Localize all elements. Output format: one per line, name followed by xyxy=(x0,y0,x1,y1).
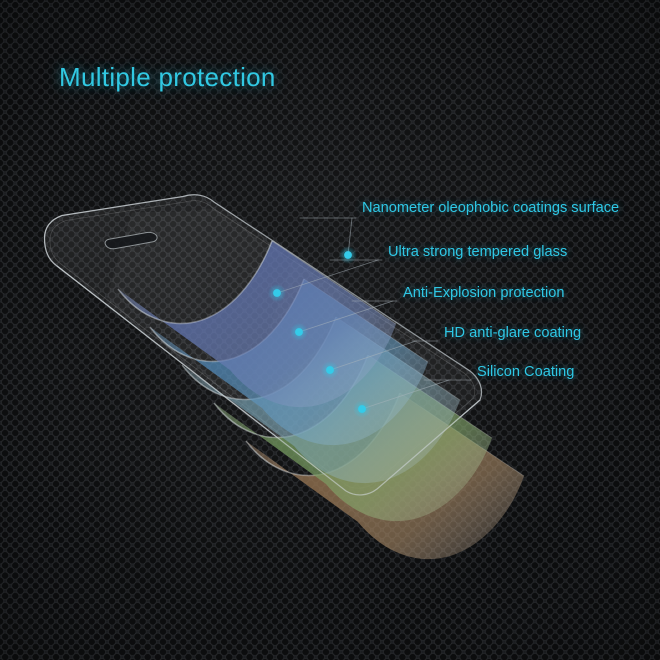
layer-label-anti-explosion-protection: Anti-Explosion protection xyxy=(403,285,564,301)
marker-dot-3 xyxy=(290,323,308,341)
marker-dot-5 xyxy=(353,400,371,418)
layer-label-nanometer-oleophobic: Nanometer oleophobic coatings surface xyxy=(362,200,619,216)
page-title: Multiple protection xyxy=(59,62,276,93)
marker-dot-4 xyxy=(321,361,339,379)
marker-dot-2 xyxy=(268,284,286,302)
layer-label-silicon-coating: Silicon Coating xyxy=(477,364,574,380)
marker-dot-1 xyxy=(339,246,357,264)
product-infographic: Multiple protection Nanometer oleophobic… xyxy=(0,0,660,660)
layer-label-ultra-strong-tempered-glass: Ultra strong tempered glass xyxy=(388,244,567,260)
layer-label-hd-anti-glare-coating: HD anti-glare coating xyxy=(444,325,581,341)
